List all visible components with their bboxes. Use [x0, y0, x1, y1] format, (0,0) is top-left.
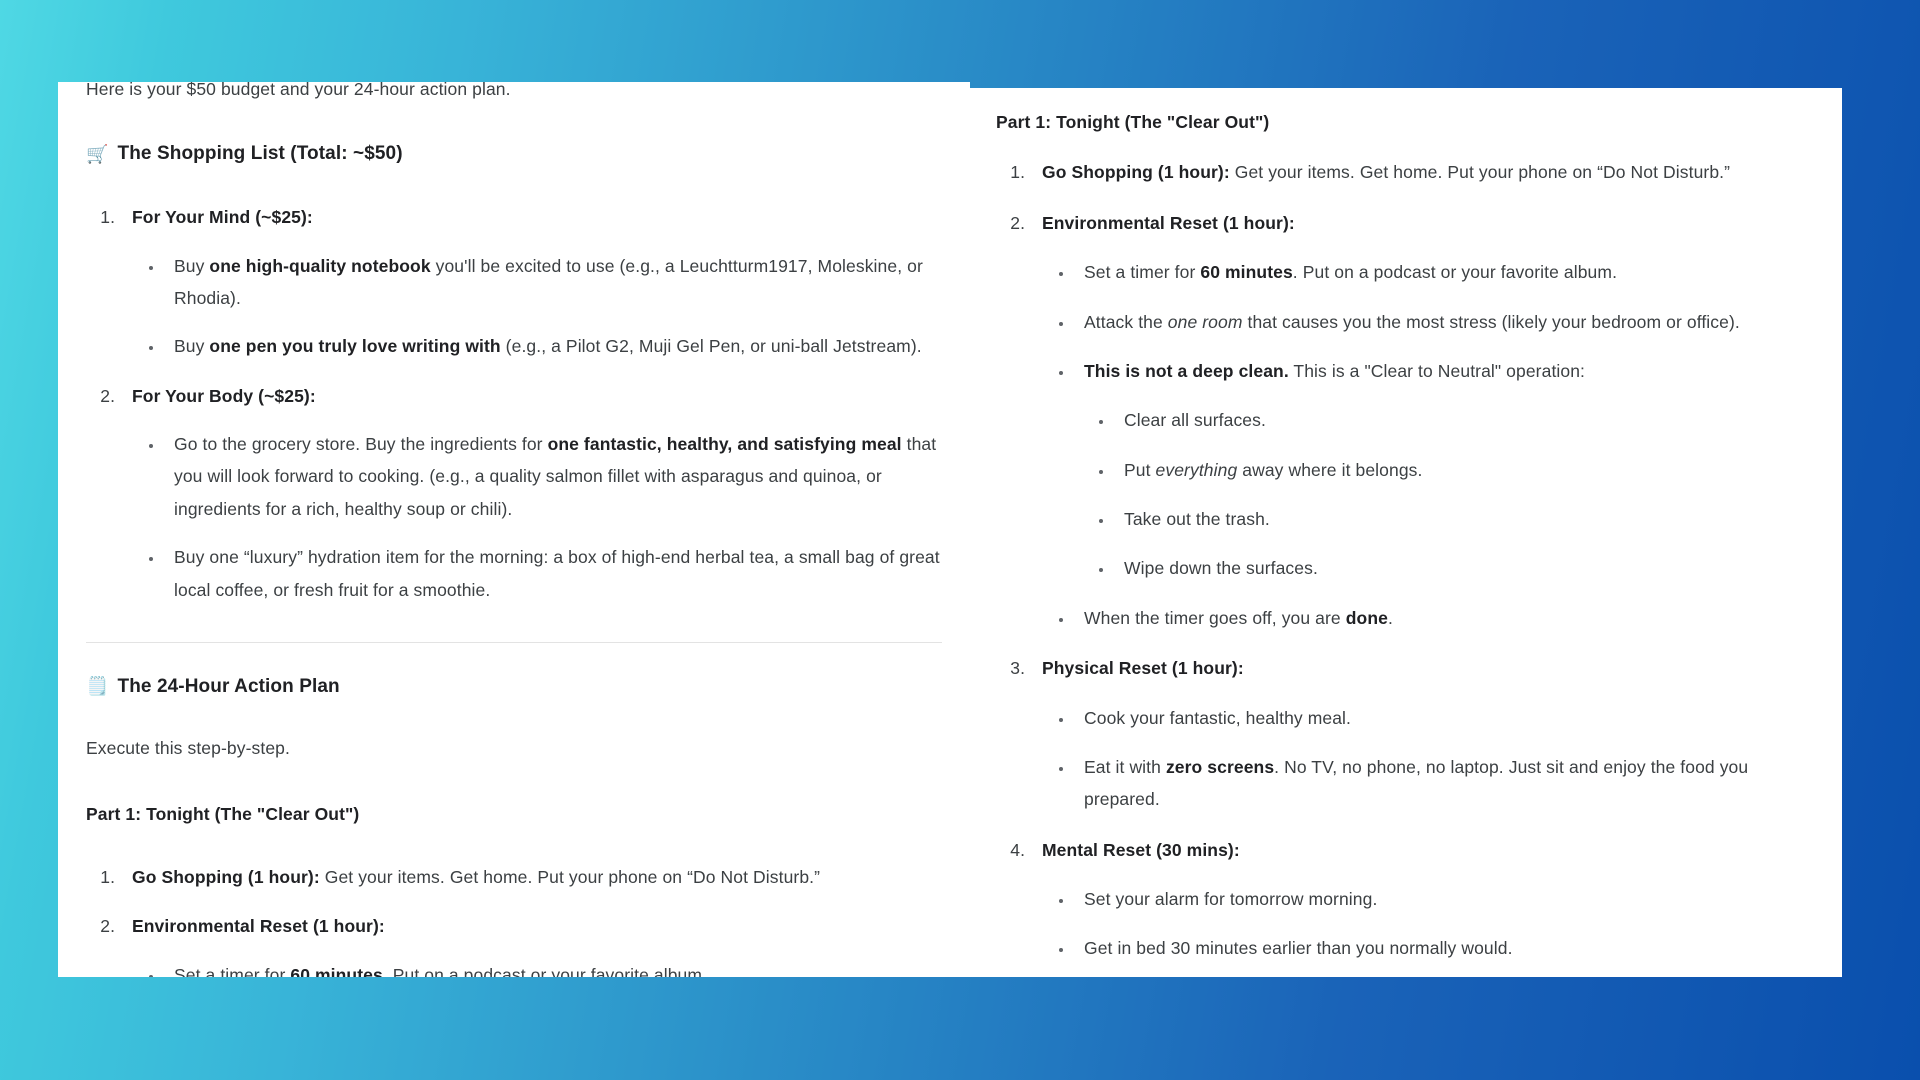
bullet-bold: This is not a deep clean. [1084, 361, 1289, 381]
list-item: Go to the grocery store. Buy the ingredi… [164, 428, 942, 525]
shopping-sublist: Buy one high-quality notebook you'll be … [164, 250, 942, 363]
clear-to-neutral-sublist: Clear all surfaces. Put everything away … [1114, 404, 1816, 585]
list-item: Attack the one room that causes you the … [1074, 306, 1816, 338]
shopping-list-heading-text: The Shopping List (Total: ~$50) [118, 136, 403, 171]
truncated-intro-line: Here is your $50 budget and your 24-hour… [86, 82, 511, 105]
list-item: Put everything away where it belongs. [1114, 454, 1816, 486]
list-item: Take out the trash. [1114, 503, 1816, 535]
list-item: When the timer goes off, you are done. [1074, 602, 1816, 634]
bullet-bold: 60 minutes [1200, 262, 1292, 282]
list-item: Cook your fantastic, healthy meal. [1074, 702, 1816, 734]
shopping-sublist: Go to the grocery store. Buy the ingredi… [164, 428, 942, 606]
list-item: Clear all surfaces. [1114, 404, 1816, 436]
step-title: Go Shopping (1 hour): [132, 867, 320, 887]
action-plan-heading-text: The 24-Hour Action Plan [118, 669, 340, 704]
step-title: Mental Reset (30 mins): [1042, 840, 1240, 860]
bullet-bold: one fantastic, healthy, and satisfying m… [548, 434, 902, 454]
step-sublist: Set a timer for 60 minutes. Put on a pod… [164, 959, 942, 977]
list-item: Environmental Reset (1 hour): Set a time… [120, 910, 942, 977]
step-sublist: Cook your fantastic, healthy meal. Eat i… [1074, 702, 1816, 816]
step-title: Environmental Reset (1 hour): [132, 916, 385, 936]
step-title: Go Shopping (1 hour): [1042, 162, 1230, 182]
list-item: Buy one high-quality notebook you'll be … [164, 250, 942, 315]
list-item: Physical Reset (1 hour): Cook your fanta… [1030, 652, 1816, 816]
bullet-bold: zero screens [1166, 757, 1274, 777]
bullet-bold: one high-quality notebook [209, 256, 430, 276]
step-body: Get your items. Get home. Put your phone… [320, 867, 820, 887]
list-item: For Your Mind (~$25): Buy one high-quali… [120, 201, 942, 363]
step-sublist: Set a timer for 60 minutes. Put on a pod… [1074, 256, 1816, 634]
list-item: Get in bed 30 minutes earlier than you n… [1074, 932, 1816, 964]
bullet-lead: Buy [174, 256, 209, 276]
list-item: Eat it with zero screens. No TV, no phon… [1074, 751, 1816, 816]
list-item: Go Shopping (1 hour): Get your items. Ge… [1030, 156, 1816, 188]
bullet-lead: Set a timer for [1084, 262, 1200, 282]
step-title: Physical Reset (1 hour): [1042, 658, 1244, 678]
bullet-bold: done [1346, 608, 1388, 628]
bullet-lead: Set your alarm for tomorrow morning. [1084, 889, 1377, 909]
bullet-rest: away where it belongs. [1237, 460, 1422, 480]
bullet-lead: Eat it with [1084, 757, 1166, 777]
shopping-list-heading: 🛒 The Shopping List (Total: ~$50) [86, 136, 942, 171]
list-item: Buy one pen you truly love writing with … [164, 330, 942, 362]
bullet-lead: Clear all surfaces. [1124, 410, 1266, 430]
bullet-lead: Cook your fantastic, healthy meal. [1084, 708, 1351, 728]
shopping-list: For Your Mind (~$25): Buy one high-quali… [120, 201, 942, 606]
step-title: Environmental Reset (1 hour): [1042, 213, 1295, 233]
bullet-rest: (e.g., a Pilot G2, Muji Gel Pen, or uni-… [501, 336, 922, 356]
right-document-panel: Part 1: Tonight (The "Clear Out") Go Sho… [970, 88, 1842, 977]
step-sublist: Set your alarm for tomorrow morning. Get… [1074, 883, 1816, 977]
list-item: Set your alarm for tomorrow morning. [1074, 883, 1816, 915]
list-item: Environmental Reset (1 hour): Set a time… [1030, 207, 1816, 634]
action-plan-steps: Go Shopping (1 hour): Get your items. Ge… [120, 861, 942, 977]
notepad-icon: 🗒️ [86, 677, 109, 695]
bullet-lead: Take out the trash. [1124, 509, 1270, 529]
action-plan-steps: Go Shopping (1 hour): Get your items. Ge… [1030, 156, 1816, 977]
bullet-bold: one pen you truly love writing with [209, 336, 500, 356]
list-item: Set a timer for 60 minutes. Put on a pod… [164, 959, 942, 977]
shopping-group-label: For Your Body (~$25): [132, 386, 316, 406]
bullet-rest: This is a "Clear to Neutral" operation: [1289, 361, 1585, 381]
bullet-italic: one room [1168, 312, 1243, 332]
step-body: Get your items. Get home. Put your phone… [1230, 162, 1730, 182]
action-plan-intro: Execute this step-by-step. [86, 732, 942, 764]
bullet-rest: . Put on a podcast or your favorite albu… [383, 965, 707, 977]
bullet-lead: Get in bed 30 minutes earlier than you n… [1084, 938, 1513, 958]
shopping-cart-icon: 🛒 [86, 145, 109, 163]
list-item: For Your Body (~$25): Go to the grocery … [120, 380, 942, 606]
list-item: Go Shopping (1 hour): Get your items. Ge… [120, 861, 942, 893]
bullet-lead: Go to the grocery store. Buy the ingredi… [174, 434, 548, 454]
right-document-body: Part 1: Tonight (The "Clear Out") Go Sho… [970, 88, 1842, 977]
section-divider [86, 642, 942, 643]
action-plan-heading: 🗒️ The 24-Hour Action Plan [86, 669, 942, 704]
bullet-bold: 60 minutes [290, 965, 382, 977]
bullet-rest: . Put on a podcast or your favorite albu… [1293, 262, 1617, 282]
bullet-lead: When the timer goes off, you are [1084, 608, 1346, 628]
list-item: Set a timer for 60 minutes. Put on a pod… [1074, 256, 1816, 288]
left-document-panel: Here is your $50 budget and your 24-hour… [58, 82, 970, 977]
part-1-heading: Part 1: Tonight (The "Clear Out") [86, 798, 942, 830]
bullet-lead: Attack the [1084, 312, 1168, 332]
bullet-lead: Put [1124, 460, 1156, 480]
left-document-body: Here is your $50 budget and your 24-hour… [58, 82, 970, 977]
part-1-heading: Part 1: Tonight (The "Clear Out") [996, 106, 1816, 138]
bullet-lead: Wipe down the surfaces. [1124, 558, 1318, 578]
shopping-group-label: For Your Mind (~$25): [132, 207, 313, 227]
bullet-rest: . [1388, 608, 1393, 628]
list-item: This is not a deep clean. This is a "Cle… [1074, 355, 1816, 585]
bullet-lead: Buy [174, 336, 209, 356]
bullet-rest: that causes you the most stress (likely … [1243, 312, 1740, 332]
list-item: Mental Reset (30 mins): Set your alarm f… [1030, 834, 1816, 977]
list-item: Buy one “luxury” hydration item for the … [164, 541, 942, 606]
bullet-italic: everything [1156, 460, 1238, 480]
bullet-lead: Buy one “luxury” hydration item for the … [174, 547, 940, 599]
bullet-lead: Set a timer for [174, 965, 290, 977]
list-item: Wipe down the surfaces. [1114, 552, 1816, 584]
